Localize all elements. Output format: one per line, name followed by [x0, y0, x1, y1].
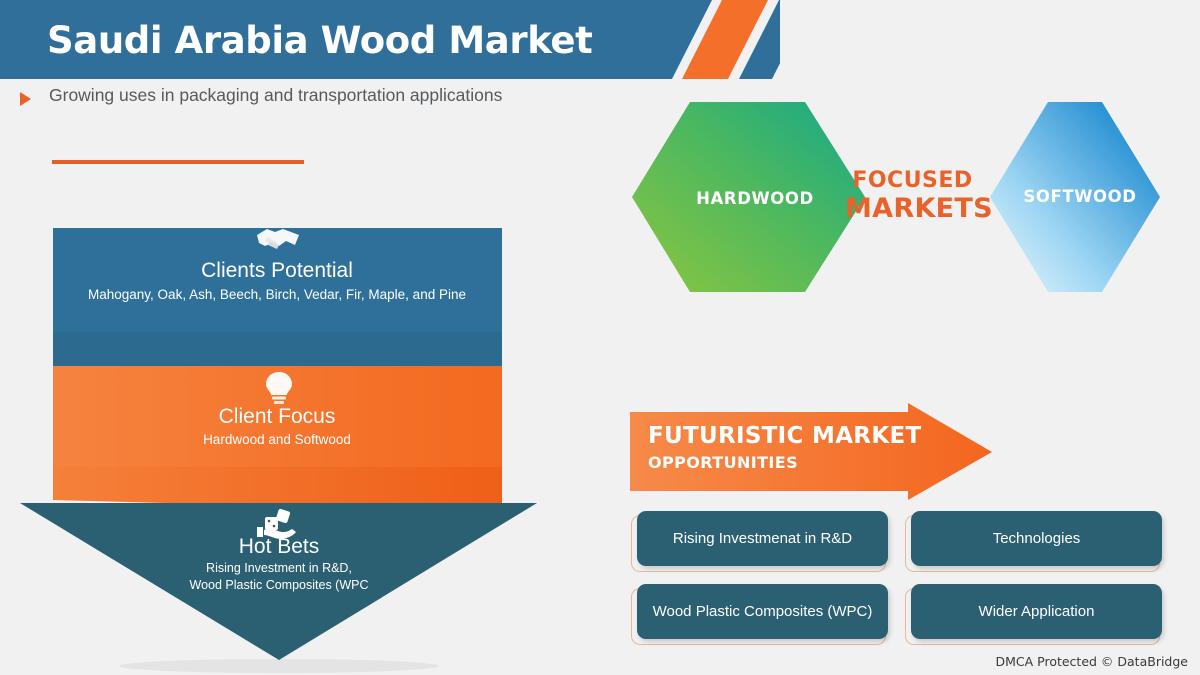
futuristic-line-1: FUTURISTIC MARKET [648, 423, 921, 449]
card-face[interactable]: Wider Application [911, 584, 1162, 639]
hardwood-label: HARDWOOD [640, 189, 870, 208]
funnel-diagram: Clients Potential Mahogany, Oak, Ash, Be… [0, 0, 600, 675]
focused-line-1: FOCUSED [845, 170, 980, 192]
opportunity-card-wpc[interactable]: Wood Plastic Composites (WPC) [631, 584, 888, 643]
infographic-canvas: Saudi Arabia Wood Market Growing uses in… [0, 0, 1200, 675]
funnel-stage-2-title: Client Focus [53, 405, 501, 429]
arrow-shape [630, 403, 1000, 501]
focused-markets-diagram: HARDWOOD SOFTWOOD FOCUSED MARKETS [620, 100, 1180, 295]
card-label: Technologies [985, 530, 1089, 548]
opportunity-cards: Rising Investmenat in R&D Technologies W… [631, 511, 1171, 653]
funnel-stage-1-subtitle: Mahogany, Oak, Ash, Beech, Birch, Vedar,… [53, 286, 501, 303]
card-label: Wider Application [971, 603, 1103, 621]
card-face[interactable]: Rising Investmenat in R&D [637, 511, 888, 566]
softwood-label: SOFTWOOD [970, 187, 1190, 206]
funnel-stage-3-subtitle-line1: Rising Investment in R&D, [95, 561, 463, 576]
funnel-stage-1-label: Clients Potential Mahogany, Oak, Ash, Be… [53, 259, 501, 303]
opportunity-card-technologies[interactable]: Technologies [905, 511, 1162, 570]
funnel-stage-3-label: Hot Bets Rising Investment in R&D, Wood … [95, 535, 463, 593]
focused-line-2: MARKETS [845, 195, 980, 222]
funnel-stage-1-title: Clients Potential [53, 259, 501, 283]
card-face[interactable]: Wood Plastic Composites (WPC) [637, 584, 888, 639]
funnel-stage-2-label: Client Focus Hardwood and Softwood [53, 405, 501, 448]
card-label: Rising Investmenat in R&D [665, 530, 860, 548]
focused-markets-caption: FOCUSED MARKETS [845, 170, 980, 222]
dmca-notice: DMCA Protected © DataBridge [995, 654, 1188, 669]
opportunity-card-wider-application[interactable]: Wider Application [905, 584, 1162, 643]
opportunity-card-rd[interactable]: Rising Investmenat in R&D [631, 511, 888, 570]
card-face[interactable]: Technologies [911, 511, 1162, 566]
futuristic-line-2: OPPORTUNITIES [648, 453, 798, 472]
funnel-stage-3-title: Hot Bets [95, 535, 463, 559]
card-label: Wood Plastic Composites (WPC) [645, 603, 881, 621]
futuristic-market-arrow: FUTURISTIC MARKET OPPORTUNITIES [630, 403, 1000, 501]
funnel-stage-3-subtitle-line2: Wood Plastic Composites (WPC [95, 578, 463, 593]
funnel-stage-2-subtitle: Hardwood and Softwood [53, 431, 501, 448]
